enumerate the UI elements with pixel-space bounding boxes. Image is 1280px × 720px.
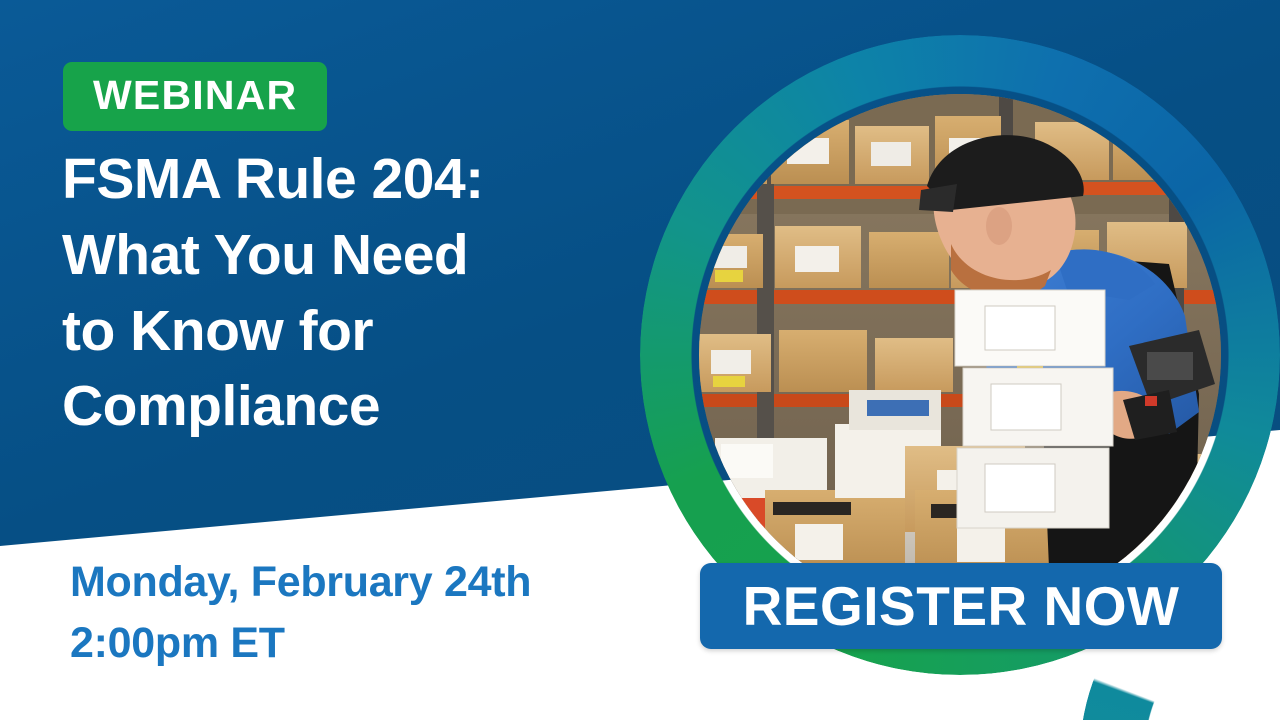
title-line-1: FSMA Rule 204: (62, 142, 642, 218)
warehouse-worker-photo (699, 94, 1221, 616)
title-line-2: What You Need (62, 218, 642, 294)
webinar-badge: WEBINAR (63, 62, 327, 131)
photo-illustration (699, 94, 1221, 616)
register-now-button[interactable]: REGISTER NOW (700, 563, 1222, 649)
title-line-4: Compliance (62, 369, 642, 445)
page-title: FSMA Rule 204: What You Need to Know for… (62, 142, 642, 445)
event-datetime: Monday, February 24th 2:00pm ET (70, 552, 670, 674)
title-line-3: to Know for (62, 294, 642, 370)
webinar-promo-graphic: WEBINAR FSMA Rule 204: What You Need to … (0, 0, 1280, 720)
register-now-label: REGISTER NOW (743, 574, 1180, 638)
event-date: Monday, February 24th (70, 552, 670, 613)
event-time: 2:00pm ET (70, 613, 670, 674)
